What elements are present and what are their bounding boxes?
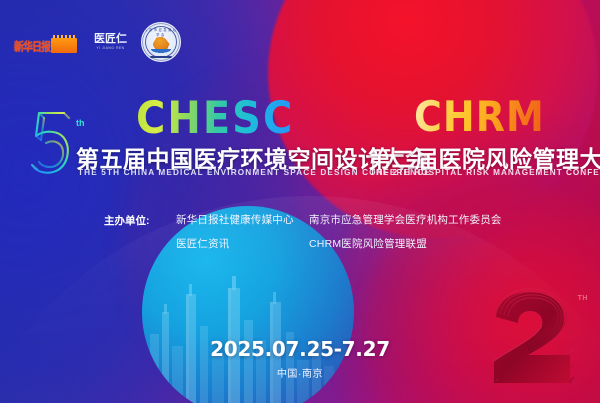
association-seal-logo: 南京市应急管理学会 bbox=[141, 22, 181, 62]
chesc-acronym: CHESC bbox=[136, 96, 294, 141]
calendar-block-icon bbox=[51, 38, 77, 53]
organizer-item: 医匠仁资讯 bbox=[176, 236, 309, 251]
city-skyline-icon bbox=[142, 268, 354, 403]
chrm-acronym: CHRM bbox=[414, 96, 545, 138]
xinhua-daily-logo: 新华日报 bbox=[14, 31, 80, 53]
seal-arc-text: 南京市应急管理学会 bbox=[142, 27, 180, 37]
conference-poster: 新华日报 医匠仁 YI JIANG REN 南京市应急管理学会 bbox=[0, 0, 600, 403]
organizer-item: CHRM医院风险管理联盟 bbox=[309, 236, 529, 251]
xinhua-daily-hanzi: 新华日报 bbox=[14, 42, 50, 54]
ordinal-numeral-5-graphic bbox=[20, 105, 78, 179]
right-conference-block: CHRM 第二届医院风险管理大会 THE 2TH HOSPITAL RISK M… bbox=[366, 96, 594, 186]
event-date: 2025.07.25-7.27 bbox=[0, 338, 600, 360]
event-location: 中国·南京 bbox=[0, 365, 600, 380]
left-conference-block: th CHESC 第五届中国医疗环境空间设计大会 THE 5TH CHINA M… bbox=[18, 96, 358, 186]
organizers-column-2: 南京市应急管理学会医疗机构工作委员会 CHRM医院风险管理联盟 bbox=[309, 212, 529, 251]
organizer-item: 新华日报社健康传媒中心 bbox=[176, 212, 309, 227]
circular-seal-emblem-icon bbox=[153, 37, 170, 50]
event-date-block: 2025.07.25-7.27 中国·南京 bbox=[0, 338, 600, 380]
ordinal-suffix-th-left: th bbox=[76, 118, 85, 128]
organizers-column-1: 新华日报社健康传媒中心 医匠仁资讯 bbox=[176, 212, 309, 251]
organizers-label: 主办单位: bbox=[104, 212, 176, 251]
yijiangren-cn: 医匠仁 bbox=[94, 34, 127, 45]
yijiangren-logo: 医匠仁 YI JIANG REN bbox=[94, 34, 127, 50]
yijiangren-pinyin: YI JIANG REN bbox=[94, 47, 127, 50]
seal-base-icon bbox=[150, 56, 172, 58]
organizer-item: 南京市应急管理学会医疗机构工作委员会 bbox=[309, 212, 529, 227]
right-conference-en-title: THE 2TH HOSPITAL RISK MANAGEMENT CONFERE… bbox=[370, 168, 600, 177]
organizers-section: 主办单位: 新华日报社健康传媒中心 医匠仁资讯 南京市应急管理学会医疗机构工作委… bbox=[104, 212, 529, 251]
seal-wave-icon bbox=[148, 49, 174, 54]
sponsor-logo-row: 新华日报 医匠仁 YI JIANG REN 南京市应急管理学会 bbox=[14, 22, 181, 62]
